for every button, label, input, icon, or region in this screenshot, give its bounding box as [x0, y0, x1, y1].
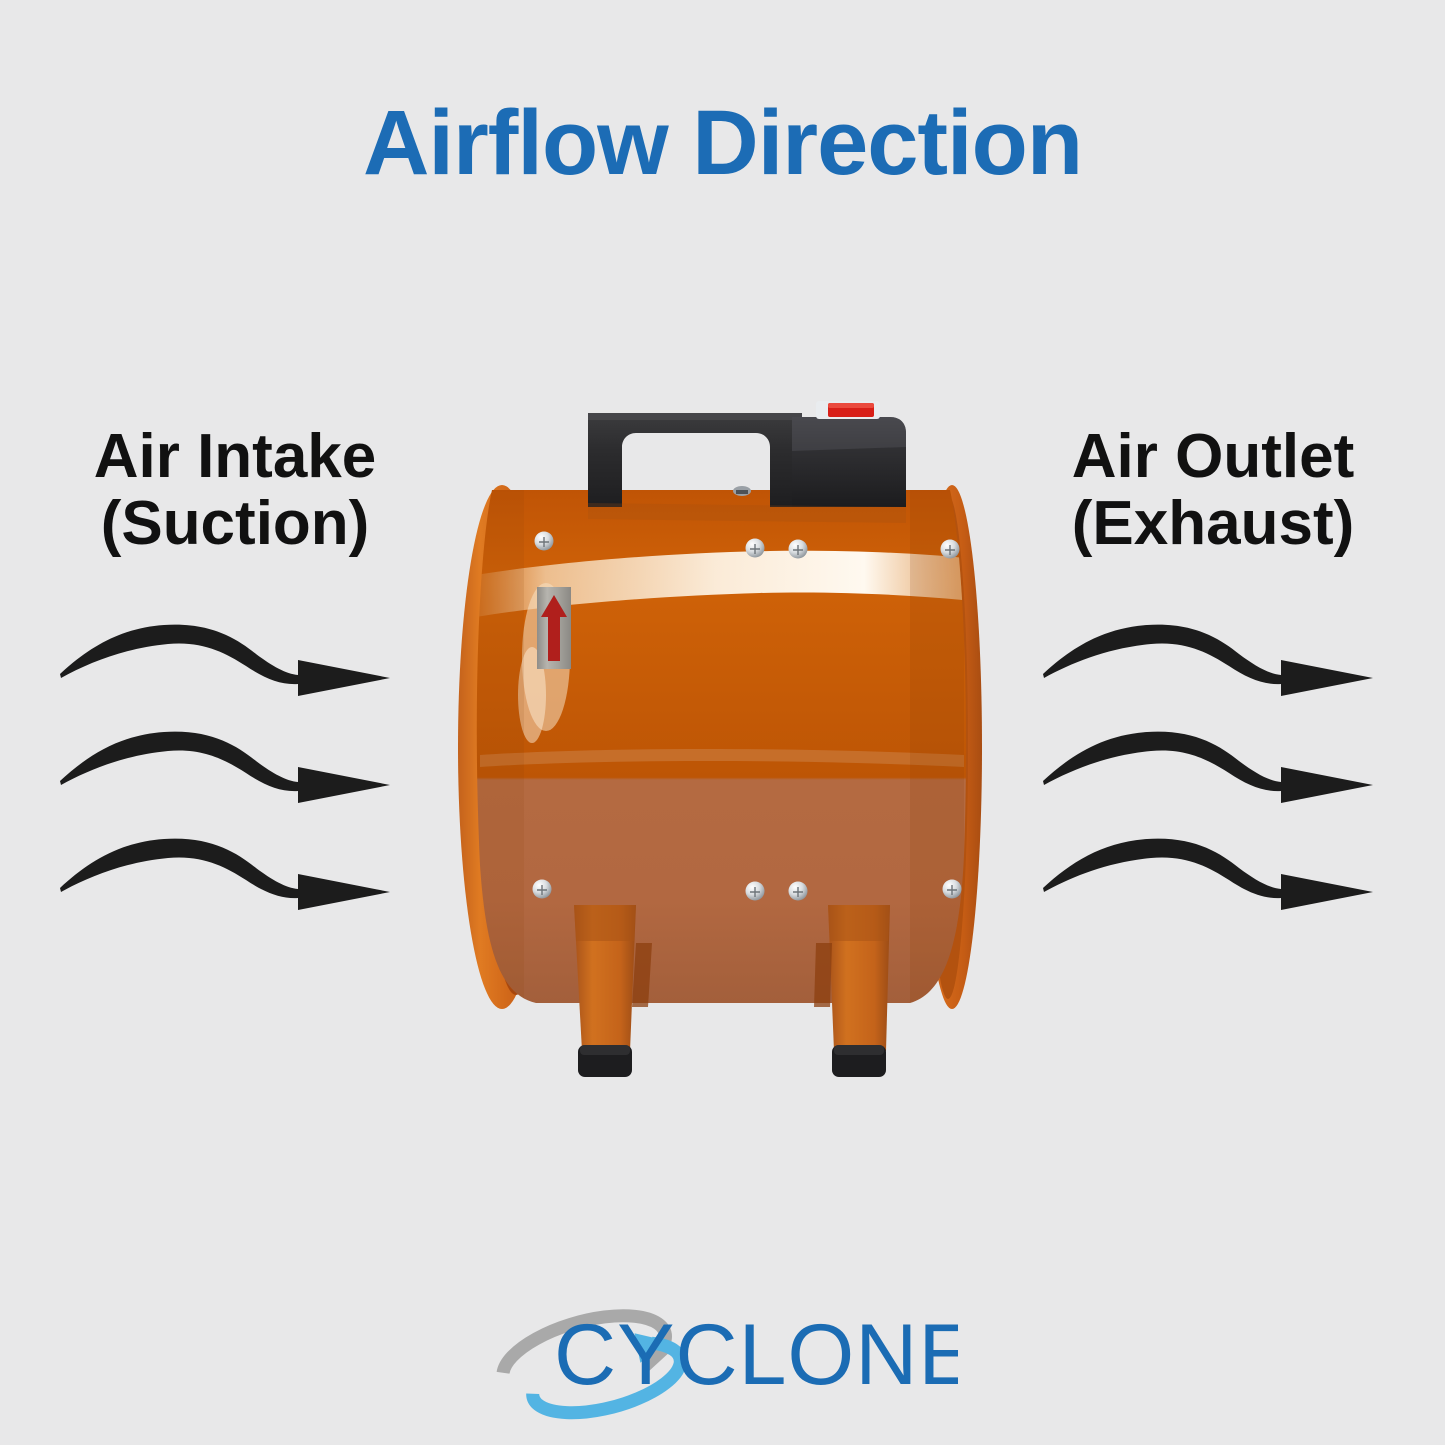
screw: [789, 540, 808, 559]
screw: [941, 540, 960, 559]
airflow-arrow: [60, 625, 390, 696]
air-outlet-label-line1: Air Outlet: [1003, 424, 1423, 491]
airflow-direction-sticker: [537, 587, 571, 669]
fan-housing-body: [476, 490, 974, 1003]
airflow-arrow: [60, 732, 390, 803]
airflow-arrow: [1043, 839, 1373, 910]
blower-fan-product-image: [440, 395, 1010, 1095]
exhaust-airflow-arrows: [1043, 608, 1373, 928]
airflow-direction-infographic: Airflow Direction Air Intake (Suction) A…: [0, 0, 1445, 1445]
screw: [746, 882, 765, 901]
intake-airflow-arrows: [60, 608, 390, 928]
screw: [943, 880, 962, 899]
rocker-switch: [816, 401, 880, 419]
air-outlet-label: Air Outlet (Exhaust): [1003, 424, 1423, 558]
air-intake-label-line2: (Suction): [30, 491, 440, 558]
switch-box: [792, 401, 906, 507]
air-intake-label-line1: Air Intake: [30, 424, 440, 491]
cyclone-brand-logo: CYCLONE: [0, 1282, 1445, 1432]
airflow-arrow: [60, 839, 390, 910]
logo-wordmark: CYCLONE: [554, 1307, 958, 1403]
screw: [533, 880, 552, 899]
airflow-arrow: [1043, 732, 1373, 803]
screw: [535, 532, 554, 551]
air-outlet-label-line2: (Exhaust): [1003, 491, 1423, 558]
support-leg-right: [828, 905, 890, 1077]
page-title: Airflow Direction: [0, 95, 1445, 192]
screw: [789, 882, 808, 901]
airflow-arrow: [1043, 625, 1373, 696]
screw: [746, 539, 765, 558]
air-intake-label: Air Intake (Suction): [30, 424, 440, 558]
support-leg-left: [574, 905, 636, 1077]
